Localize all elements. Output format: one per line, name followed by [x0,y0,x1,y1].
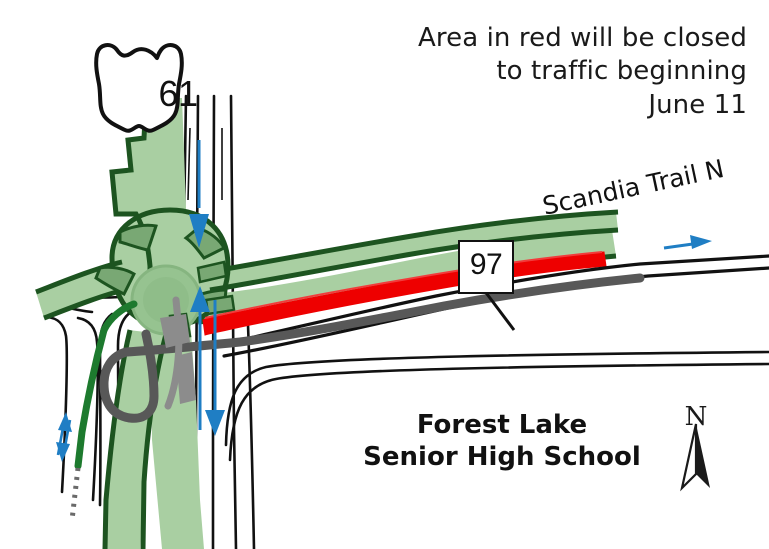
route-shield-us61: 61 [139,57,217,131]
landmark-label-school: Forest Lake Senior High School [352,410,652,473]
closure-notice-line3: June 11 [327,89,747,122]
route-shield-mn97-number: 97 [460,248,512,282]
closure-notice-line1: Area in red will be closed [327,22,747,55]
route-shield-mn97: 97 [458,240,514,294]
route-shield-us61-number: 61 [139,73,217,115]
north-arrow-letter: N [668,402,724,432]
bicycle-trail-dotted [72,468,78,520]
north-arrow: N [668,404,724,492]
us61-lane-lines [188,128,222,200]
closure-notice: Area in red will be closed to traffic be… [327,22,747,122]
arrow-scandia-eastbound [664,235,712,249]
closure-notice-line2: to traffic beginning [327,55,747,88]
construction-detour-map: Area in red will be closed to traffic be… [0,0,769,549]
school-label-line1: Forest Lake [352,410,652,442]
school-label-line2: Senior High School [352,442,652,474]
